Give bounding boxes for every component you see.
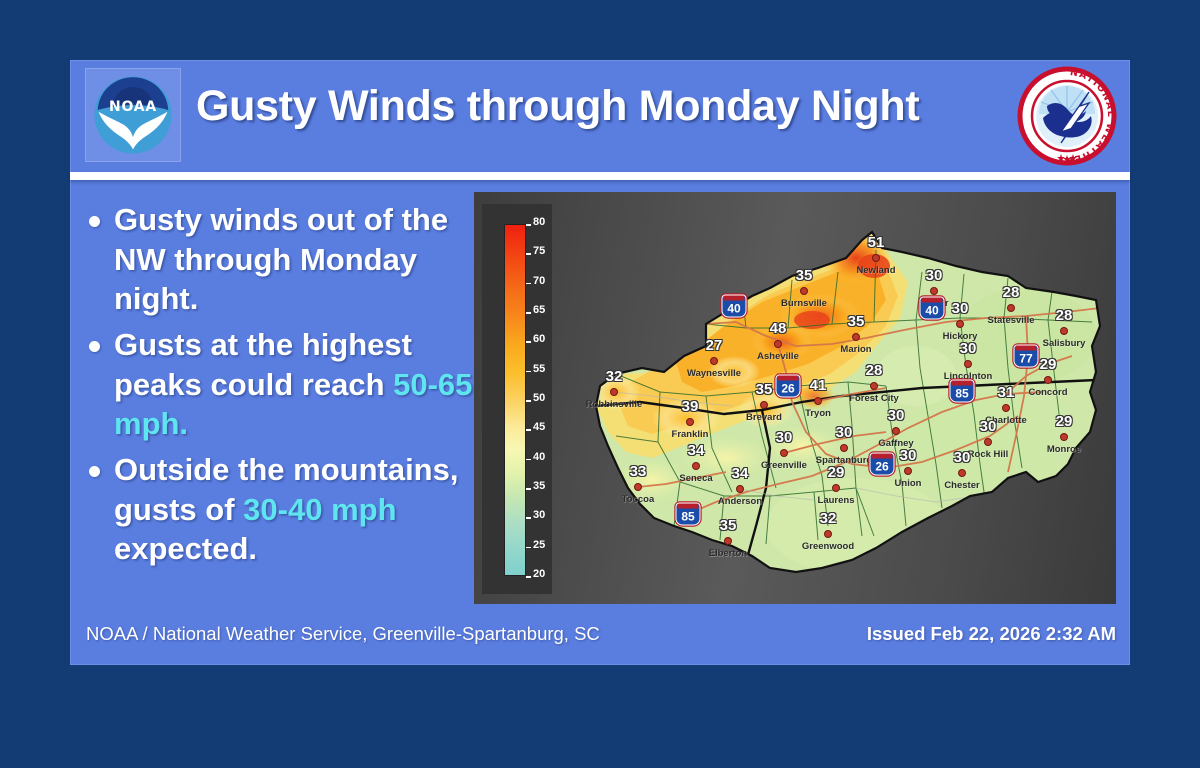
city-name: Brevard (746, 412, 782, 423)
city-name: Seneca (679, 473, 712, 484)
gust-value: 30 (900, 447, 917, 464)
city-name: Asheville (757, 351, 799, 362)
city-name: Robbinsville (586, 399, 642, 410)
city-dot-icon (964, 360, 972, 368)
gust-value: 29 (1040, 356, 1057, 373)
colorbar-tick-60: 60 (526, 341, 556, 342)
gust-value: 29 (828, 464, 845, 481)
city-dot-icon (710, 357, 718, 365)
gust-value: 35 (796, 267, 813, 284)
city-dot-icon (692, 462, 700, 470)
colorbar-tick-50: 50 (526, 400, 556, 401)
city-dot-icon (760, 401, 768, 409)
gust-value: 29 (1056, 413, 1073, 430)
bullet-text-2: Outside the mountains, gusts of 30-40 mp… (114, 450, 486, 569)
bullet-dot-icon (89, 466, 100, 477)
interstate-number: 40 (925, 304, 938, 319)
map-canvas: 32Robbinsville39Franklin27Waynesville48A… (556, 196, 1112, 600)
interstate-shield-icon: 77 (1014, 345, 1039, 368)
city-dot-icon (1044, 376, 1052, 384)
city-dot-icon (832, 484, 840, 492)
colorbar-tick-40: 40 (526, 459, 556, 460)
interstate-number: 40 (727, 302, 740, 317)
bullet-1-segment-0: Gusts at the highest peaks could reach (114, 327, 412, 402)
bullet-text-1: Gusts at the highest peaks could reach 5… (114, 325, 486, 444)
bullet-dot-icon (89, 341, 100, 352)
interstate-number: 26 (875, 460, 888, 475)
interstate-shield-icon: 26 (870, 453, 895, 476)
city-dot-icon (800, 287, 808, 295)
colorbar-tick-30: 30 (526, 517, 556, 518)
city-name: Newland (856, 265, 895, 276)
city-dot-icon (904, 467, 912, 475)
colorbar-tick-70: 70 (526, 283, 556, 284)
gust-value: 28 (866, 362, 883, 379)
colorbar-tick-35: 35 (526, 488, 556, 489)
gust-value: 30 (960, 340, 977, 357)
svg-text:NOAA: NOAA (109, 99, 157, 115)
bullet-dot-icon (89, 216, 100, 227)
gust-value: 28 (1056, 307, 1073, 324)
gust-value: 35 (848, 313, 865, 330)
header-divider (70, 172, 1130, 180)
gust-value: 32 (606, 368, 623, 385)
city-dot-icon (872, 254, 880, 262)
gust-value: 30 (888, 407, 905, 424)
city-dot-icon (958, 469, 966, 477)
city-dot-icon (774, 340, 782, 348)
colorbar-tick-45: 45 (526, 429, 556, 430)
city-dot-icon (840, 444, 848, 452)
gust-value: 31 (998, 384, 1015, 401)
footer: NOAA / National Weather Service, Greenvi… (70, 609, 1130, 665)
page-title: Gusty Winds through Monday Night (196, 82, 1076, 131)
bullet-2-segment-1: 30-40 mph (243, 492, 396, 527)
gust-value: 30 (980, 418, 997, 435)
gust-value: 30 (952, 300, 969, 317)
city-dot-icon (984, 438, 992, 446)
colorbar-tick-80: 80 (526, 224, 556, 225)
city-dot-icon (780, 449, 788, 457)
city-name: Chester (944, 480, 979, 491)
city-dot-icon (870, 382, 878, 390)
interstate-number: 85 (681, 510, 694, 525)
noaa-logo-icon: NOAA (85, 68, 181, 162)
gust-value: 30 (776, 429, 793, 446)
gust-value: 48 (770, 320, 787, 337)
city-name: Toccoa (622, 494, 655, 505)
city-dot-icon (852, 333, 860, 341)
city-name: Rock Hill (968, 449, 1009, 460)
city-dot-icon (930, 287, 938, 295)
gust-value: 33 (630, 463, 647, 480)
gust-value: 32 (820, 510, 837, 527)
issued-timestamp: Issued Feb 22, 2026 2:32 AM (867, 623, 1116, 645)
interstate-shield-icon: 85 (950, 380, 975, 403)
interstate-shield-icon: 40 (920, 297, 945, 320)
interstate-shield-icon: 85 (676, 503, 701, 526)
city-name: Burnsville (781, 298, 827, 309)
gust-value: 30 (836, 424, 853, 441)
city-name: Franklin (672, 429, 709, 440)
gust-value: 41 (810, 377, 827, 394)
city-name: Anderson (718, 496, 762, 507)
city-name: Concord (1028, 387, 1067, 398)
graphic-root: NOAA Gusty Winds through Monday Night (0, 0, 1200, 768)
gust-value: 27 (706, 337, 723, 354)
city-name: Union (895, 478, 922, 489)
colorbar-legend: Wind Gust (mile_per_hour) 80757065605550… (482, 204, 552, 594)
city-name: Elberton (709, 548, 748, 559)
colorbar-tick-55: 55 (526, 371, 556, 372)
bullet-list: Gusty winds out of the NW through Monday… (86, 200, 486, 575)
city-dot-icon (956, 320, 964, 328)
city-name: Greenwood (802, 541, 854, 552)
gust-value: 35 (720, 517, 737, 534)
city-name: Laurens (818, 495, 855, 506)
list-item: Outside the mountains, gusts of 30-40 mp… (86, 450, 486, 569)
info-card: NOAA Gusty Winds through Monday Night (70, 60, 1130, 665)
gust-value: 30 (954, 449, 971, 466)
city-dot-icon (814, 397, 822, 405)
colorbar-tick-20: 20 (526, 576, 556, 577)
city-name: Monroe (1047, 444, 1081, 455)
bullet-2-segment-2: expected. (114, 531, 257, 566)
city-dot-icon (1007, 304, 1015, 312)
city-name: Tryon (805, 408, 831, 419)
city-dot-icon (824, 530, 832, 538)
gust-value: 34 (688, 442, 705, 459)
interstate-shield-icon: 40 (722, 295, 747, 318)
gust-value: 51 (868, 234, 885, 251)
interstate-number: 26 (781, 382, 794, 397)
nws-logo-icon: NATIONAL WEATHER SERVICE (1016, 66, 1118, 166)
colorbar-tick-75: 75 (526, 253, 556, 254)
city-dot-icon (686, 418, 694, 426)
interstate-shield-icon: 26 (776, 375, 801, 398)
colorbar-ticks: 80757065605550454035302520 (526, 218, 556, 582)
city-name: Statesville (988, 315, 1035, 326)
gust-value: 34 (732, 465, 749, 482)
wind-gust-map: Wind Gust (mile_per_hour) 80757065605550… (474, 192, 1116, 604)
city-name: Forest City (849, 393, 899, 404)
gust-value: 35 (756, 381, 773, 398)
city-name: Marion (840, 344, 871, 355)
list-item: Gusts at the highest peaks could reach 5… (86, 325, 486, 444)
bullet-text-0: Gusty winds out of the NW through Monday… (114, 200, 486, 319)
bullet-0-segment-0: Gusty winds out of the NW through Monday… (114, 202, 448, 316)
list-item: Gusty winds out of the NW through Monday… (86, 200, 486, 319)
city-name: Waynesville (687, 368, 741, 379)
city-dot-icon (1002, 404, 1010, 412)
city-dot-icon (736, 485, 744, 493)
city-dot-icon (1060, 433, 1068, 441)
city-name: Salisbury (1043, 338, 1086, 349)
city-dot-icon (1060, 327, 1068, 335)
gust-value: 28 (1003, 284, 1020, 301)
header: NOAA Gusty Winds through Monday Night (70, 60, 1130, 170)
colorbar-tick-65: 65 (526, 312, 556, 313)
city-dot-icon (892, 427, 900, 435)
colorbar-gradient (504, 224, 526, 576)
city-dot-icon (610, 388, 618, 396)
map-graphics (556, 196, 1112, 600)
city-dot-icon (724, 537, 732, 545)
interstate-number: 77 (1019, 352, 1032, 367)
gust-value: 30 (926, 267, 943, 284)
colorbar-tick-25: 25 (526, 547, 556, 548)
interstate-number: 85 (955, 387, 968, 402)
city-dot-icon (634, 483, 642, 491)
issuing-office: NOAA / National Weather Service, Greenvi… (86, 623, 600, 645)
city-name: Greenville (761, 460, 807, 471)
gust-value: 39 (682, 398, 699, 415)
